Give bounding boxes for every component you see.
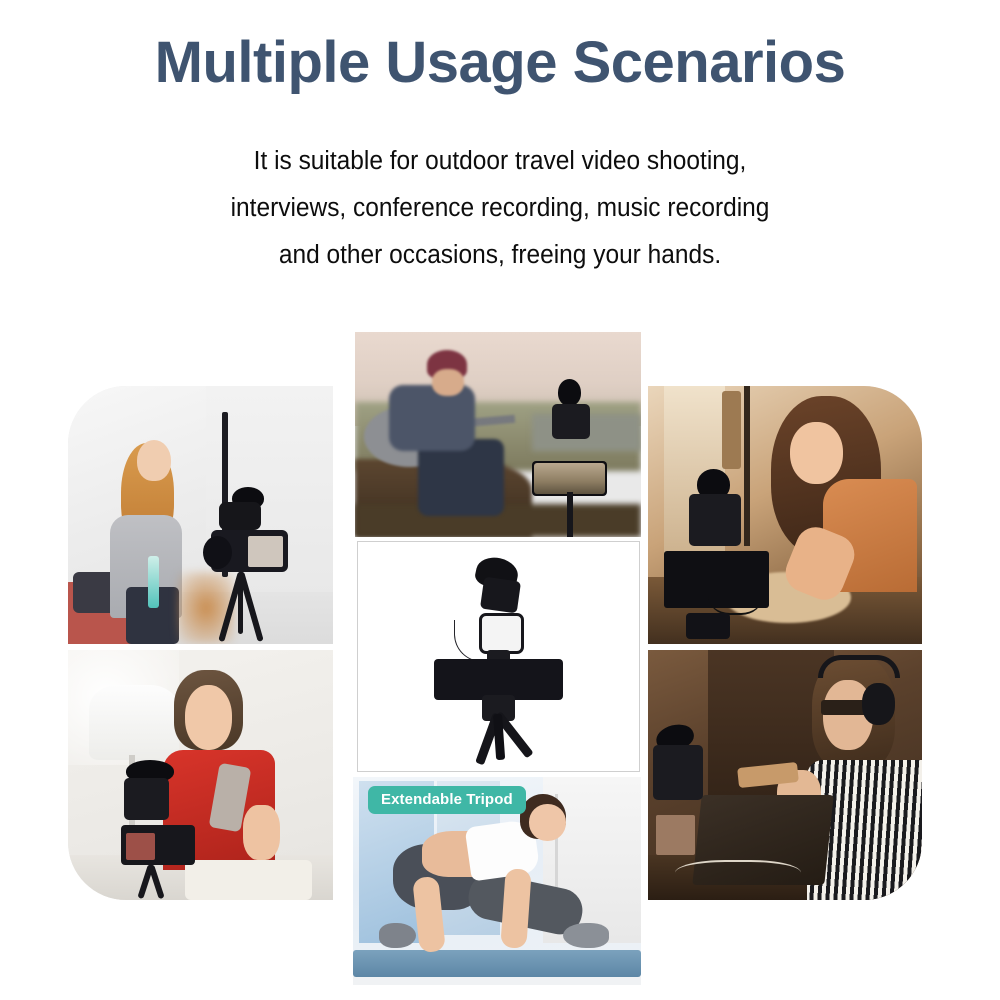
led-light-icon bbox=[479, 613, 524, 654]
scenario-photo-bottom-left bbox=[68, 650, 333, 900]
home-desk-lamp-scene bbox=[68, 650, 333, 900]
product-photo-center bbox=[357, 541, 640, 772]
phone-holder bbox=[434, 659, 563, 700]
scenario-photo-bottom-center: Extendable Tripod bbox=[353, 777, 641, 985]
scenario-photo-bottom-right bbox=[648, 650, 922, 900]
vlogging-kit-product bbox=[358, 542, 639, 771]
scenario-photo-top-center bbox=[355, 332, 641, 537]
scenario-collage: Extendable Tripod bbox=[0, 0, 1000, 1000]
status-badge-extendable-tripod: Extendable Tripod bbox=[368, 786, 526, 814]
headphones-icon bbox=[818, 655, 900, 678]
microphone-icon bbox=[558, 379, 581, 406]
office-interview-scene bbox=[68, 386, 333, 644]
scenario-photo-top-left bbox=[68, 386, 333, 644]
outdoor-guitar-scene bbox=[355, 332, 641, 537]
podcast-headphones-scene bbox=[648, 650, 922, 900]
scenario-photo-top-right bbox=[648, 386, 922, 644]
warm-desk-crafting-scene bbox=[648, 386, 922, 644]
